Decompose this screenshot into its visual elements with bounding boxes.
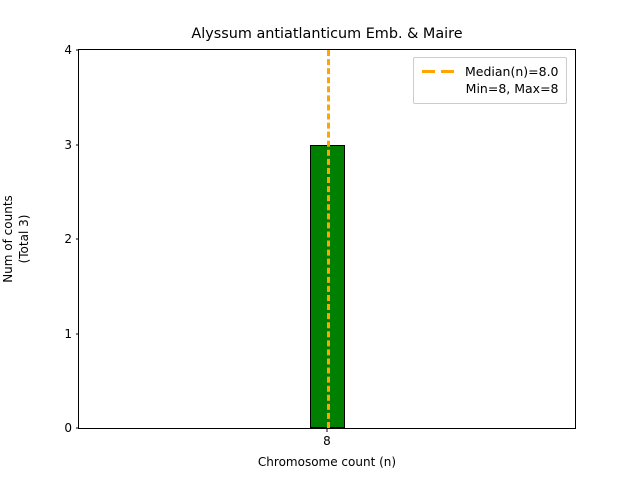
ytick-label-2: 2 xyxy=(64,233,79,245)
median-line xyxy=(327,50,330,428)
ytick-label-1: 1 xyxy=(64,328,79,340)
x-axis-label: Chromosome count (n) xyxy=(78,455,576,469)
legend-median-dash-icon xyxy=(421,63,457,80)
plot-inner xyxy=(79,50,575,428)
legend-line-minmax: Min=8, Max=8 xyxy=(465,80,559,97)
chart-title: Alyssum antiatlanticum Emb. & Maire xyxy=(78,26,576,43)
legend-entry-text: Median(n)=8.0 Min=8, Max=8 xyxy=(465,63,559,97)
plot-area: 0 1 2 3 4 8 Median(n)=8.0 Min=8, Max=8 xyxy=(78,49,576,429)
ytick-label-4: 4 xyxy=(64,44,79,56)
legend-line-median: Median(n)=8.0 xyxy=(465,63,559,80)
figure-canvas: Alyssum antiatlanticum Emb. & Maire 0 1 … xyxy=(0,0,640,480)
y-axis-label: Num of counts (Total 3) xyxy=(0,49,34,429)
chart-legend[interactable]: Median(n)=8.0 Min=8, Max=8 xyxy=(413,57,567,104)
ytick-label-0: 0 xyxy=(64,422,79,434)
xtick-label-8: 8 xyxy=(323,428,331,447)
ytick-label-3: 3 xyxy=(64,139,79,151)
